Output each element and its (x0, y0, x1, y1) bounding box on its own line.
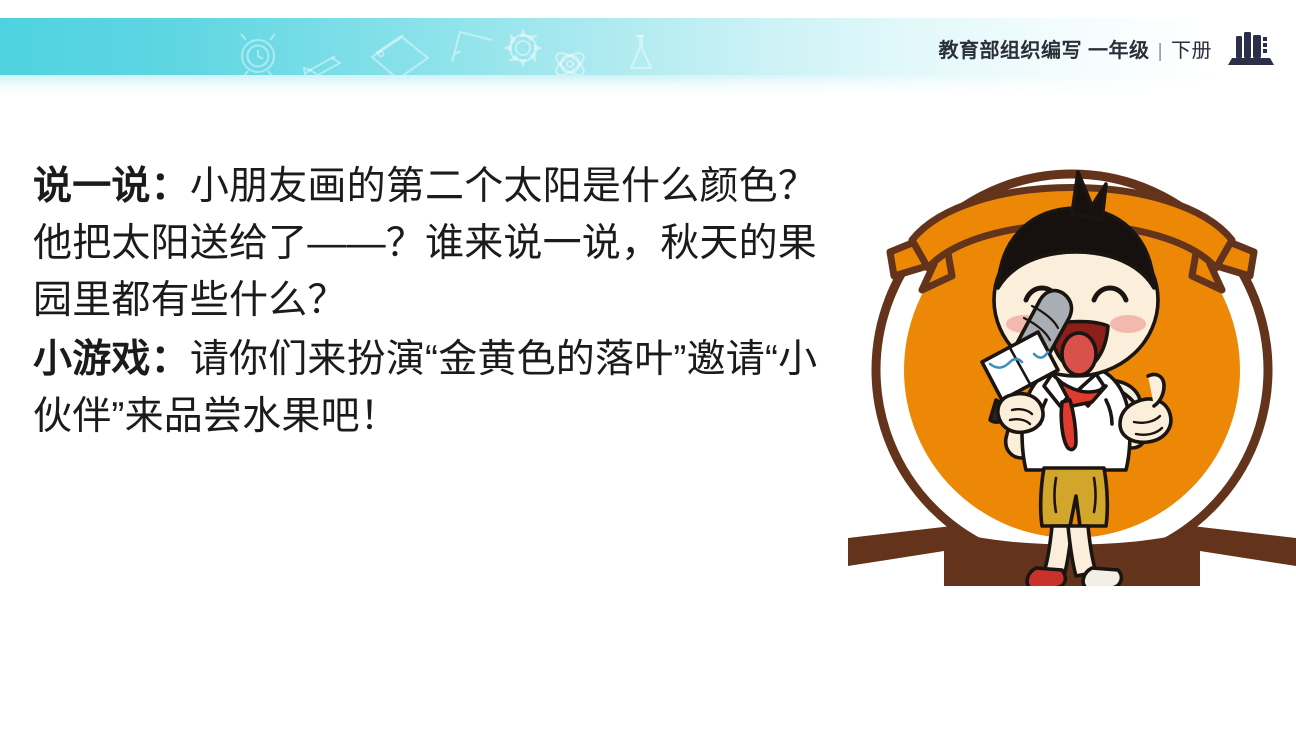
slide-root: 教育部组织编写 一年级 | 下册 说一说：小朋友画的第二个太阳是什么颜色？他把太… (0, 0, 1296, 729)
header-title: 教育部组织编写 一年级 | 下册 (939, 34, 1213, 63)
lesson-text-block: 说一说：小朋友画的第二个太阳是什么颜色？他把太阳送给了——？谁来说一说，秋天的果… (33, 158, 833, 445)
header-meta: 教育部组织编写 一年级 | 下册 (939, 27, 1275, 69)
paragraph-xiaoyouxi: 小游戏：请你们来扮演“金黄色的落叶”邀请“小伙伴”来品尝水果吧！ (33, 331, 833, 445)
cartoon-boy-illustration (848, 148, 1296, 586)
paragraph-lead-shuoyishuo: 说一说： (33, 165, 190, 208)
bookshelf-icon (1228, 28, 1274, 68)
header-fade (0, 75, 1296, 101)
header-title-separator: | (1157, 41, 1164, 63)
header-title-volume: 下册 (1171, 34, 1212, 63)
paragraph-lead-xiaoyouxi: 小游戏： (33, 338, 190, 381)
paragraph-shuoyishuo: 说一说：小朋友画的第二个太阳是什么颜色？他把太阳送给了——？谁来说一说，秋天的果… (33, 158, 833, 329)
header-title-main: 教育部组织编写 一年级 (939, 34, 1150, 63)
